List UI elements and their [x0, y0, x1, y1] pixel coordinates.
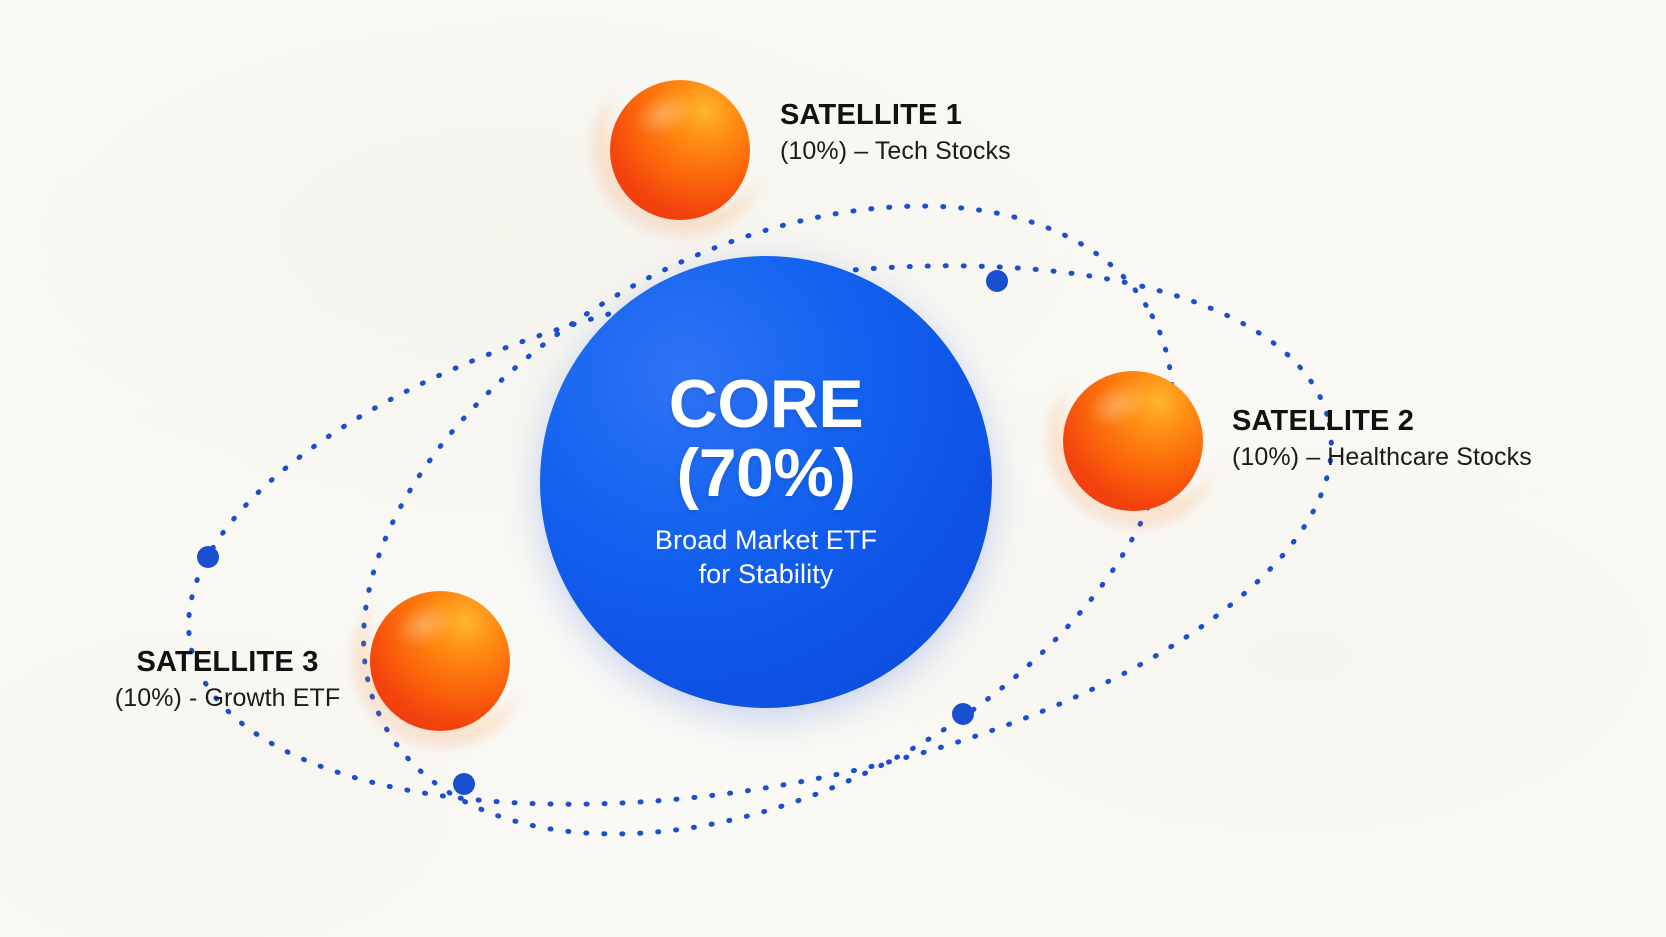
- satellite-1-sphere[interactable]: [610, 80, 750, 220]
- orbit-node-left: [197, 546, 219, 568]
- satellite-3-sphere[interactable]: [370, 591, 510, 731]
- satellite-2-label: SATELLITE 2 (10%) – Healthcare Stocks: [1232, 404, 1532, 474]
- satellite-2-subtitle: (10%) – Healthcare Stocks: [1232, 441, 1532, 474]
- core-title: CORE: [669, 372, 863, 437]
- orbit-node-bottom-right: [952, 703, 974, 725]
- satellite-3-subtitle: (10%) - Growth ETF: [110, 682, 345, 715]
- core-percent: (70%): [677, 437, 856, 510]
- satellite-3-title: SATELLITE 3: [110, 645, 345, 679]
- diagram-canvas: CORE (70%) Broad Market ETF for Stabilit…: [0, 0, 1666, 937]
- satellite-3-label: SATELLITE 3 (10%) - Growth ETF: [110, 645, 345, 715]
- satellite-1-subtitle: (10%) – Tech Stocks: [780, 135, 1011, 168]
- satellite-2-sphere[interactable]: [1063, 371, 1203, 511]
- satellite-1-label: SATELLITE 1 (10%) – Tech Stocks: [780, 98, 1011, 168]
- orbit-node-bottom-left: [453, 773, 475, 795]
- core-description-line-2: for Stability: [699, 557, 834, 592]
- core-node[interactable]: CORE (70%) Broad Market ETF for Stabilit…: [540, 256, 992, 708]
- core-description-line-1: Broad Market ETF: [655, 523, 877, 558]
- satellite-1-title: SATELLITE 1: [780, 98, 1011, 132]
- orbit-node-top-right: [986, 270, 1008, 292]
- satellite-2-title: SATELLITE 2: [1232, 404, 1532, 438]
